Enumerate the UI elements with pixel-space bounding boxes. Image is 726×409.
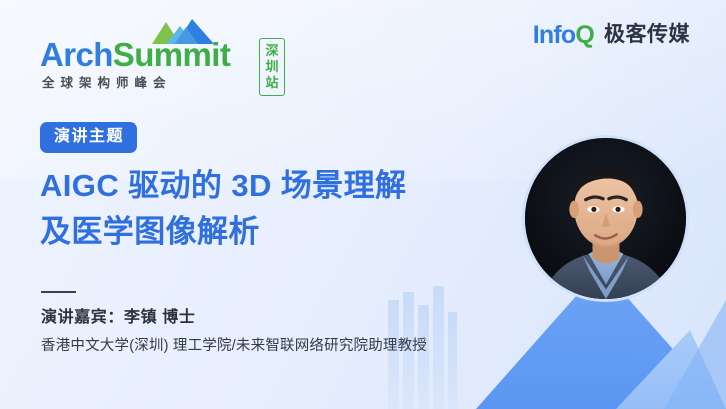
archsummit-arch-text: Arch — [40, 36, 113, 73]
speaker-headshot-illustration — [525, 138, 686, 299]
speaker-portrait — [522, 135, 689, 302]
mountain-triangle-small — [616, 330, 726, 409]
speaker-affiliation: 香港中文大学(深圳) 理工学院/未来智联网络研究院助理教授 — [41, 336, 427, 356]
archsummit-summit-text: Summit — [113, 36, 230, 73]
speaker-poster: ArchSummit 全球架构师峰会 深 圳 站 InfoQ 极客传媒 演讲主题… — [0, 0, 726, 409]
infoq-chinese-name: 极客传媒 — [604, 22, 690, 48]
section-divider — [41, 291, 76, 293]
city-badge-char-1: 深 — [265, 43, 278, 59]
city-badge-shenzhen: 深 圳 站 — [259, 38, 285, 96]
infoq-wordmark: InfoQ — [533, 22, 594, 48]
speaker-name-line: 演讲嘉宾：李镇 博士 — [41, 307, 195, 329]
topic-badge: 演讲主题 — [40, 122, 137, 153]
infoq-info-text: Info — [533, 21, 576, 49]
session-title-line-2: 及医学图像解析 — [40, 209, 540, 255]
city-badge-char-3: 站 — [265, 75, 278, 91]
archsummit-subtitle: 全球架构师峰会 — [42, 72, 172, 91]
archsummit-logo: ArchSummit 全球架构师峰会 深 圳 站 — [40, 18, 260, 82]
mountain-triangle-sliver — [664, 300, 726, 409]
session-title: AIGC 驱动的 3D 场景理解 及医学图像解析 — [40, 163, 540, 255]
session-title-line-1: AIGC 驱动的 3D 场景理解 — [40, 163, 540, 209]
archsummit-wordmark: ArchSummit — [40, 38, 230, 72]
city-badge-char-2: 圳 — [265, 59, 278, 75]
infoq-logo: InfoQ 极客传媒 — [533, 22, 690, 48]
poster-header: ArchSummit 全球架构师峰会 深 圳 站 InfoQ 极客传媒 — [0, 0, 726, 100]
infoq-q-text: Q — [575, 21, 594, 49]
